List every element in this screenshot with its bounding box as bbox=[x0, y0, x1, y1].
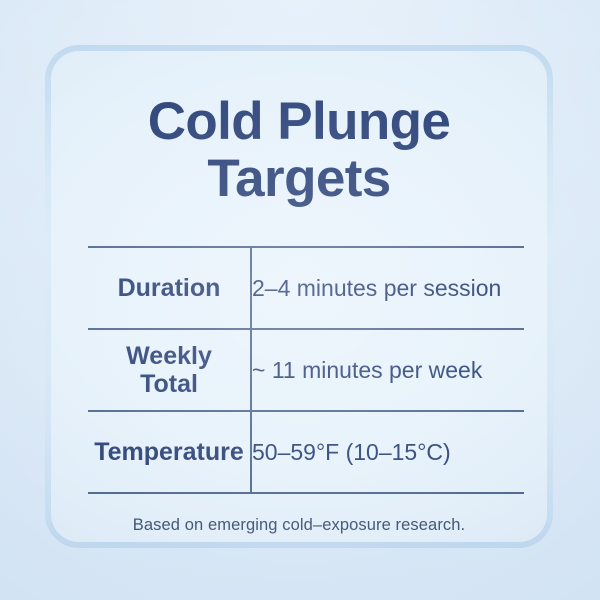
table-row: Temperature 50–59°F (10–15°C) bbox=[88, 411, 524, 493]
page-background: Cold Plunge Targets Duration 2–4 minutes… bbox=[0, 0, 600, 600]
table-row: Duration 2–4 minutes per session bbox=[88, 247, 524, 329]
row-value-temperature: 50–59°F (10–15°C) bbox=[251, 411, 524, 493]
row-value-weekly-total: ~ 11 minutes per week bbox=[251, 329, 524, 411]
row-label-duration: Duration bbox=[88, 247, 251, 329]
row-label-temperature: Temperature bbox=[88, 411, 251, 493]
info-card: Cold Plunge Targets Duration 2–4 minutes… bbox=[45, 45, 553, 548]
card-inner: Cold Plunge Targets Duration 2–4 minutes… bbox=[51, 51, 547, 542]
page-title: Cold Plunge Targets bbox=[88, 51, 510, 207]
table-row: WeeklyTotal ~ 11 minutes per week bbox=[88, 329, 524, 411]
spec-table: Duration 2–4 minutes per session WeeklyT… bbox=[88, 246, 524, 494]
footnote-text: Based on emerging cold–exposure research… bbox=[88, 494, 510, 535]
row-label-weekly-total: WeeklyTotal bbox=[88, 329, 251, 411]
row-value-duration: 2–4 minutes per session bbox=[251, 247, 524, 329]
